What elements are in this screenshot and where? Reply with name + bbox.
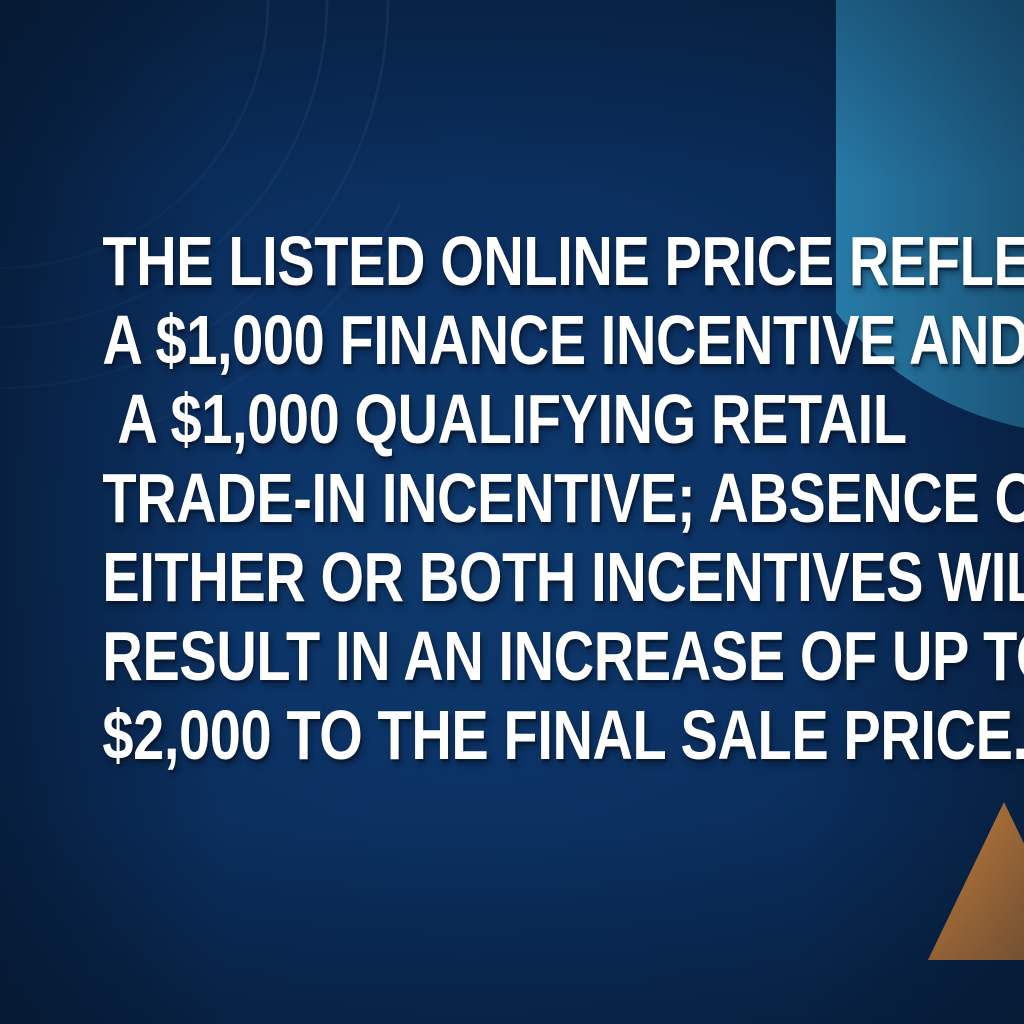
headline-line-6: RESULT IN AN INCREASE OF UP TO xyxy=(102,617,921,696)
headline-line-7: $2,000 TO THE FINAL SALE PRICE. xyxy=(102,696,921,775)
disclaimer-graphic: THE LISTED ONLINE PRICE REFLECTS A $1,00… xyxy=(0,0,1024,1024)
headline-line-1: THE LISTED ONLINE PRICE REFLECTS xyxy=(102,222,921,301)
headline-line-2: A $1,000 FINANCE INCENTIVE AND xyxy=(102,301,921,380)
headline-line-3: A $1,000 QUALIFYING RETAIL xyxy=(102,380,921,459)
headline-line-5: EITHER OR BOTH INCENTIVES WILL xyxy=(102,538,921,617)
headline-line-4: TRADE-IN INCENTIVE; ABSENCE OF xyxy=(102,459,921,538)
disclaimer-headline: THE LISTED ONLINE PRICE REFLECTS A $1,00… xyxy=(0,222,1024,775)
